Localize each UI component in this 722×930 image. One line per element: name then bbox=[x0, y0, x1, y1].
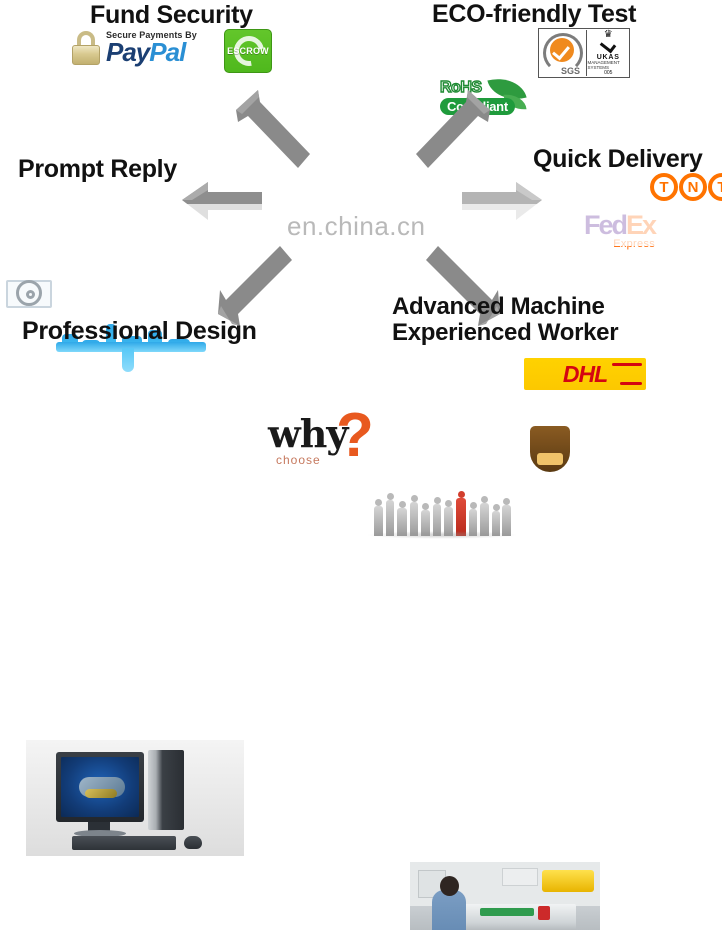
desktop-computer-cad-photo bbox=[26, 740, 244, 856]
ukas-mark: ♛ UKAS MANAGEMENT SYSTEMS 005 bbox=[586, 30, 629, 76]
arrow-to-fund-security bbox=[236, 88, 322, 170]
paypal-word-pay: Pay bbox=[106, 37, 149, 67]
why-choose-us-graphic: why ? choose bbox=[268, 409, 388, 471]
paypal-badge: Secure Payments By PayPal bbox=[72, 31, 197, 65]
fedex-express-label: Express bbox=[613, 238, 655, 250]
escrow-badge: ESCROW bbox=[224, 29, 272, 73]
professional-design-heading: Professional Design bbox=[22, 318, 257, 345]
padlock-icon bbox=[72, 31, 100, 65]
sgs-label: SGS bbox=[561, 66, 580, 76]
eco-friendly-heading: ECO-friendly Test bbox=[432, 1, 636, 28]
fedex-logo: FedEx Express bbox=[584, 212, 655, 250]
at-sign-envelope-icon bbox=[4, 272, 56, 312]
advanced-machine-heading-line2: Experienced Worker bbox=[392, 320, 618, 346]
prompt-reply-heading: Prompt Reply bbox=[18, 156, 177, 183]
fedex-word-fed: Fed bbox=[584, 212, 626, 239]
arrow-to-eco-friendly-test bbox=[404, 88, 490, 170]
paypal-word-pal: Pal bbox=[149, 37, 185, 67]
ups-shield-icon bbox=[530, 426, 570, 472]
sgs-ukas-badge: SGS ♛ UKAS MANAGEMENT SYSTEMS 005 bbox=[538, 28, 630, 78]
tnt-logo: T N T bbox=[650, 173, 722, 201]
quick-delivery-heading: Quick Delivery bbox=[533, 146, 703, 173]
question-mark-icon: ? bbox=[336, 405, 374, 467]
sgs-checkmark-icon bbox=[550, 38, 574, 62]
watermark-text: en.china.cn bbox=[287, 211, 425, 242]
sgs-mark: SGS bbox=[539, 30, 586, 76]
ukas-sub-label: MANAGEMENT SYSTEMS bbox=[587, 61, 629, 70]
section-professional-design-title: Professional Design bbox=[22, 318, 257, 345]
tnt-letter-n: N bbox=[679, 173, 707, 201]
arrow-to-prompt-reply bbox=[182, 180, 262, 222]
advanced-machine-heading-line1: Advanced Machine bbox=[392, 294, 618, 320]
crowd-of-people-icon bbox=[372, 474, 512, 536]
arrow-to-quick-delivery bbox=[462, 180, 542, 222]
section-fund-security-title: Fund Security bbox=[90, 2, 253, 29]
dhl-logo: DHL bbox=[524, 358, 646, 390]
checkmark-icon bbox=[600, 38, 617, 54]
section-eco-title: ECO-friendly Test bbox=[432, 1, 636, 28]
escrow-label: ESCROW bbox=[227, 46, 269, 56]
fund-security-heading: Fund Security bbox=[90, 2, 253, 29]
section-quick-delivery-title: Quick Delivery bbox=[533, 146, 703, 173]
tnt-letter-t1: T bbox=[650, 173, 678, 201]
dhl-label: DHL bbox=[563, 361, 607, 388]
tnt-letter-t2: T bbox=[708, 173, 722, 201]
arrow-to-professional-design bbox=[218, 246, 306, 328]
section-prompt-reply-title: Prompt Reply bbox=[18, 156, 177, 183]
factory-worker-photo bbox=[410, 862, 600, 930]
section-advanced-machine-title: Advanced Machine Experienced Worker bbox=[392, 294, 618, 346]
ukas-number: 005 bbox=[604, 71, 612, 76]
promotional-infographic: Fund Security Secure Payments By PayPal … bbox=[0, 0, 722, 465]
fedex-word-ex: Ex bbox=[626, 212, 655, 239]
